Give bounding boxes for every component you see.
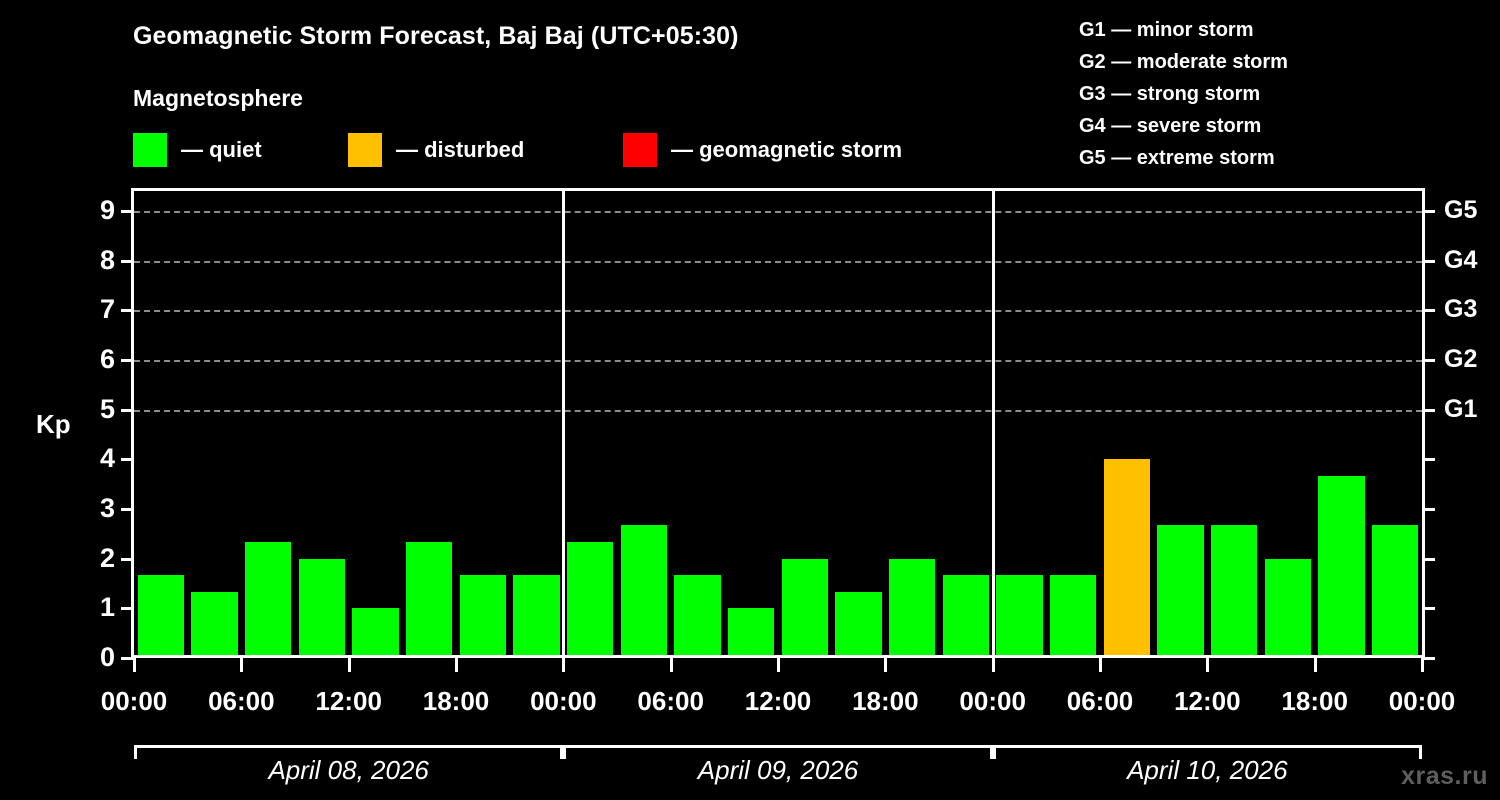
x-tick-2 [348,658,351,672]
y-tick-label-5: 5 [69,396,115,423]
x-tick-1 [240,658,243,672]
x-tick-3 [455,658,458,672]
x-tick-6 [777,658,780,672]
legend-item-disturbed: — disturbed [348,133,524,167]
plot-frame [131,188,1425,658]
x-tick-10 [1206,658,1209,672]
y-tick-right-1 [1422,607,1435,610]
y-tick-label-8: 8 [69,247,115,274]
x-tick-9 [1099,658,1102,672]
x-tick-0 [133,658,136,672]
y-tick-right-9 [1422,210,1435,213]
y-tick-2 [121,558,134,561]
y-tick-right-8 [1422,260,1435,263]
g-scale-tick-label-G3: G3 [1444,297,1500,322]
y-axis-title: Kp [36,409,71,440]
day-bracket-line-2 [563,745,992,748]
gscale-legend: G1 — minor stormG2 — moderate stormG3 — … [1079,14,1288,174]
legend-swatch-geomagnetic-storm [623,133,657,167]
day-label-2: April 09, 2026 [563,755,992,786]
g-scale-tick-label-G5: G5 [1444,198,1500,223]
y-tick-label-1: 1 [69,594,115,621]
y-tick-label-2: 2 [69,545,115,572]
y-tick-label-6: 6 [69,346,115,373]
y-tick-6 [121,359,134,362]
g-scale-tick-label-G1: G1 [1444,397,1500,422]
x-tick-7 [884,658,887,672]
legend-label-disturbed: — disturbed [396,137,524,163]
gscale-row-4: G4 — severe storm [1079,110,1288,142]
x-tick-12 [1421,658,1424,672]
x-tick-8 [992,658,995,672]
day-label-1: April 08, 2026 [134,755,563,786]
day-label-3: April 10, 2026 [993,755,1422,786]
x-tick-4 [562,658,565,672]
x-tick-label-12: 00:00 [1357,686,1487,717]
y-tick-right-3 [1422,508,1435,511]
y-tick-right-7 [1422,309,1435,312]
y-tick-9 [121,210,134,213]
y-tick-right-6 [1422,359,1435,362]
y-tick-8 [121,260,134,263]
y-tick-4 [121,458,134,461]
y-tick-label-3: 3 [69,495,115,522]
y-tick-right-4 [1422,458,1435,461]
y-tick-1 [121,607,134,610]
page-title: Geomagnetic Storm Forecast, Baj Baj (UTC… [133,22,739,51]
magnetosphere-label: Magnetosphere [133,85,303,112]
gscale-row-1: G1 — minor storm [1079,14,1288,46]
legend-label-quiet: — quiet [181,137,262,163]
legend-swatch-disturbed [348,133,382,167]
y-tick-label-4: 4 [69,445,115,472]
legend-swatch-quiet [133,133,167,167]
y-tick-right-2 [1422,558,1435,561]
gscale-row-5: G5 — extreme storm [1079,142,1288,174]
g-scale-tick-label-G2: G2 [1444,347,1500,372]
y-tick-label-9: 9 [69,197,115,224]
x-tick-5 [670,658,673,672]
y-tick-label-0: 0 [69,644,115,671]
day-bracket-line-3 [993,745,1422,748]
x-tick-11 [1314,658,1317,672]
y-tick-5 [121,409,134,412]
legend-item-geomagnetic-storm: — geomagnetic storm [623,133,902,167]
y-tick-7 [121,309,134,312]
watermark: xras.ru [1401,762,1488,791]
day-bracket-line-1 [134,745,563,748]
gscale-row-3: G3 — strong storm [1079,78,1288,110]
y-tick-right-5 [1422,409,1435,412]
legend-label-geomagnetic-storm: — geomagnetic storm [671,137,902,163]
g-scale-tick-label-G4: G4 [1444,248,1500,273]
gscale-row-2: G2 — moderate storm [1079,46,1288,78]
chart-root: Geomagnetic Storm Forecast, Baj Baj (UTC… [0,0,1500,800]
legend-item-quiet: — quiet [133,133,262,167]
y-tick-label-7: 7 [69,296,115,323]
y-tick-3 [121,508,134,511]
